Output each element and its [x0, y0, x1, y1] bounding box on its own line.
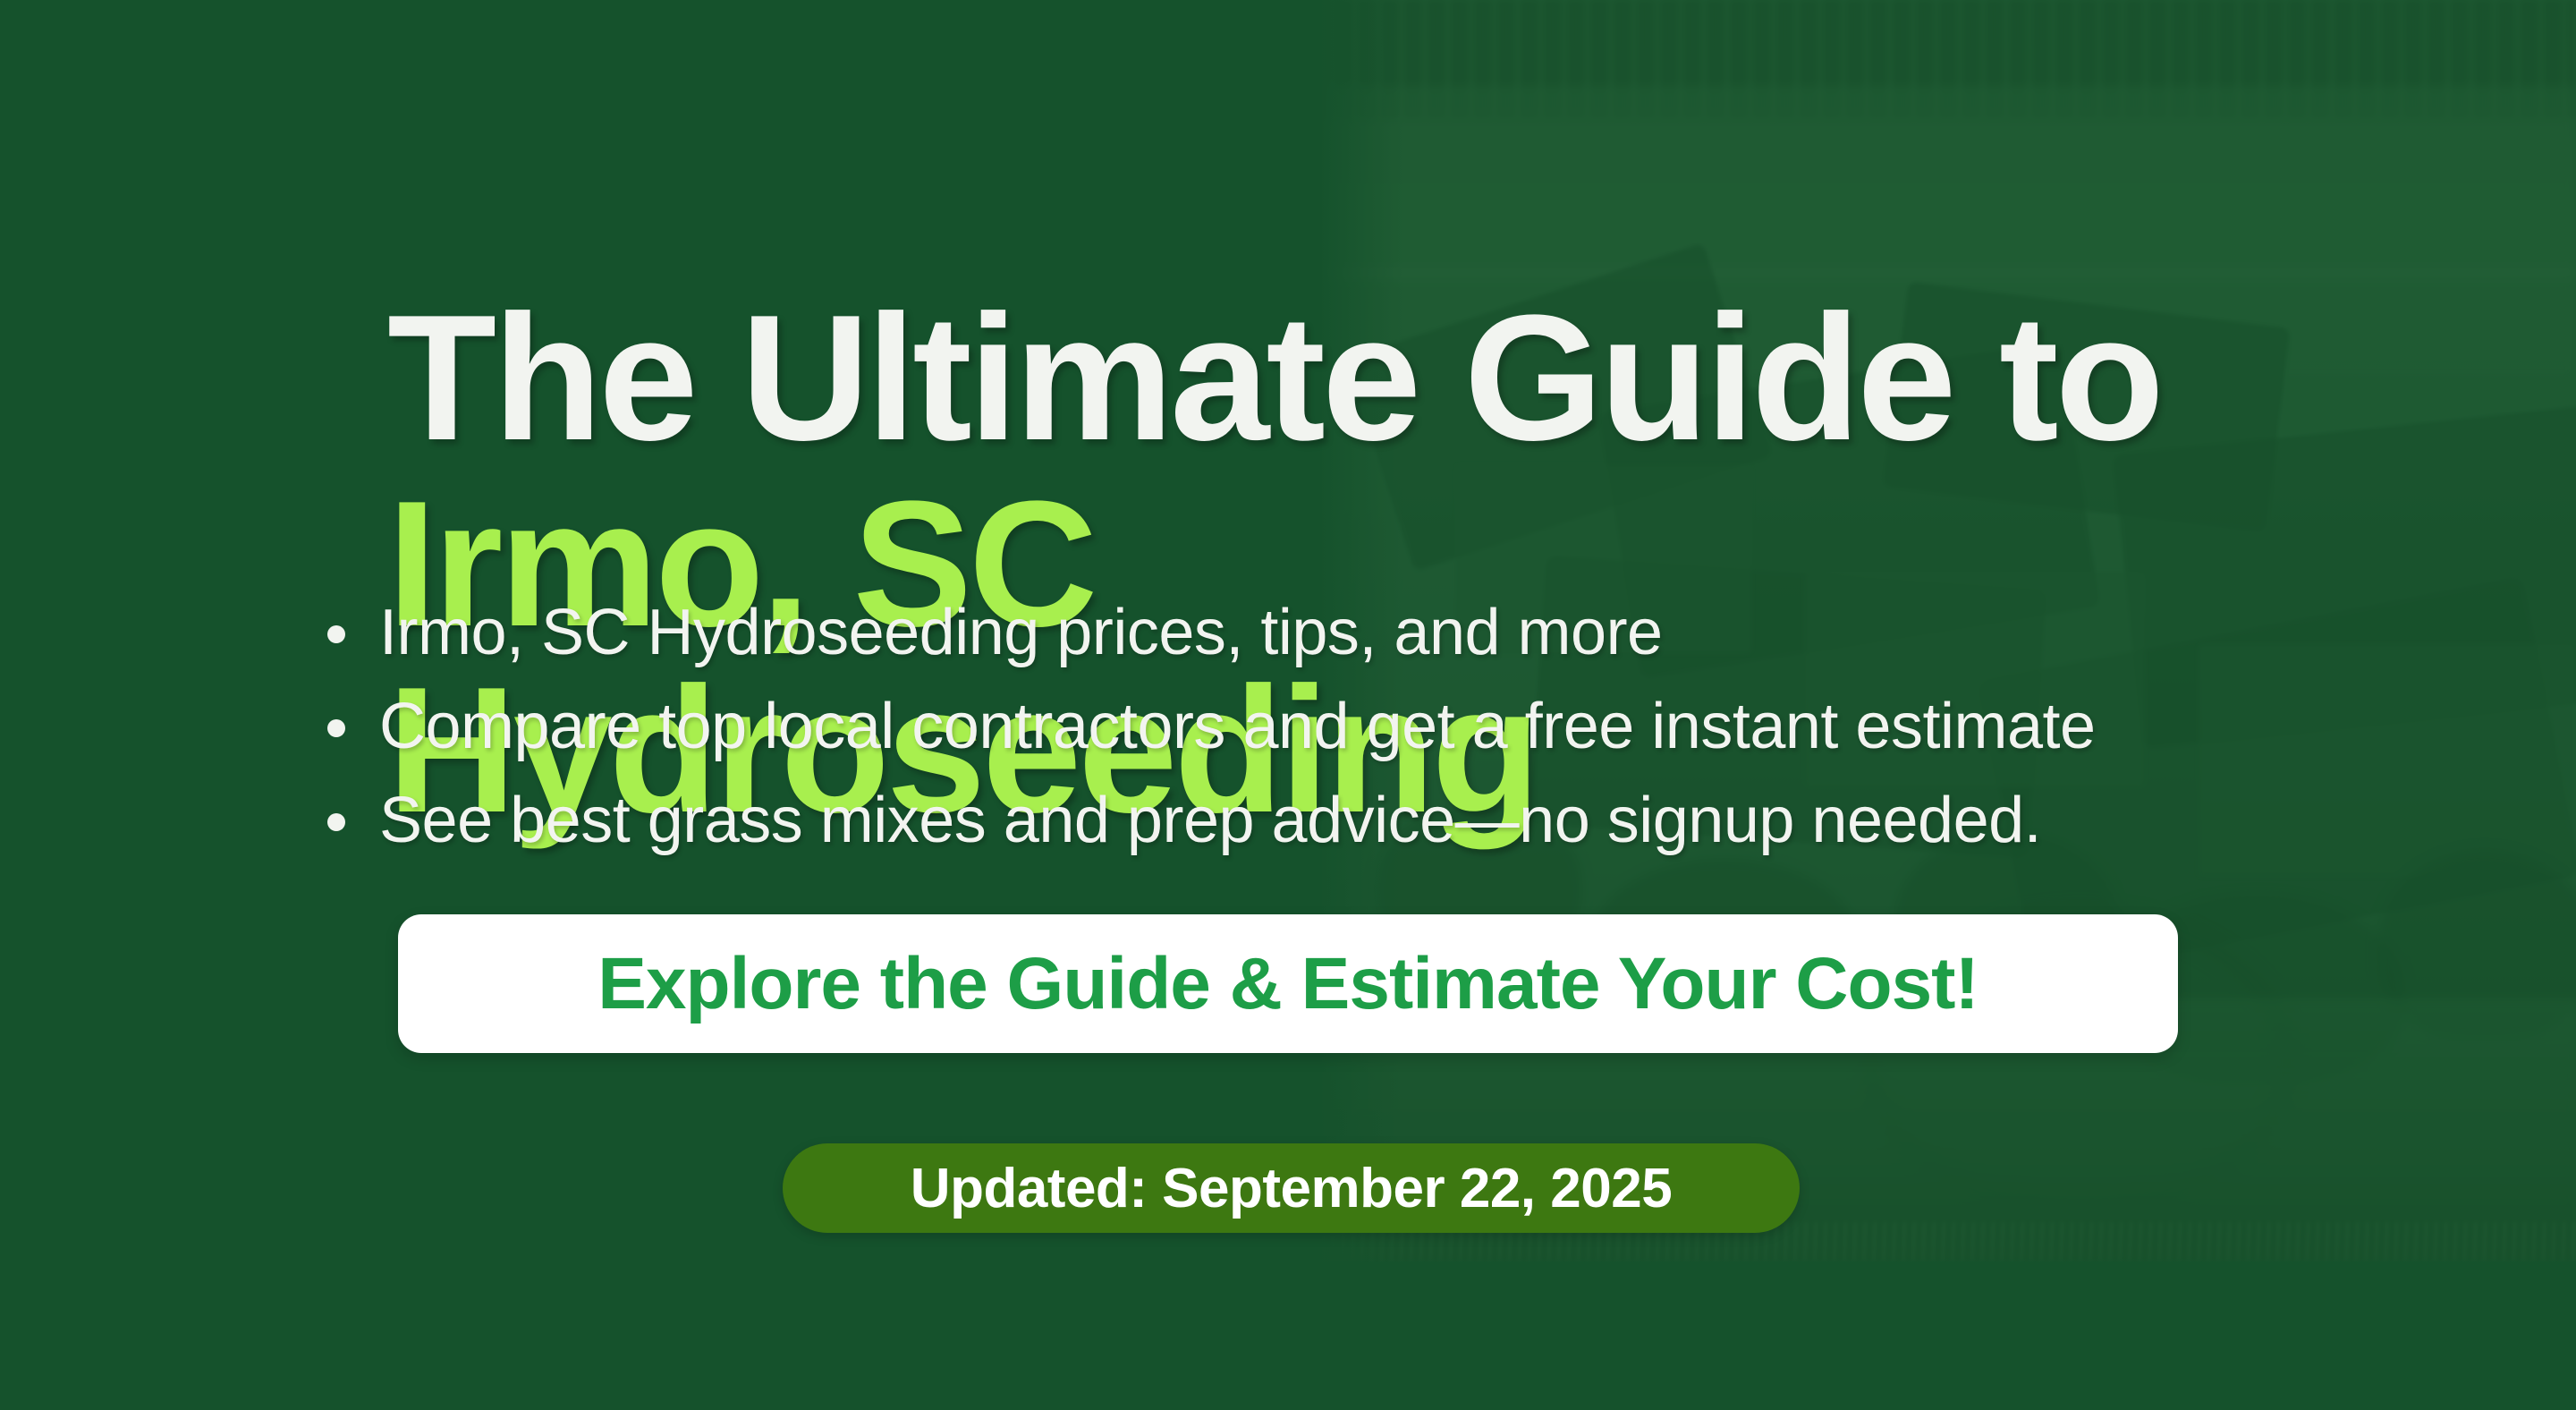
hero-banner: The Ultimate Guide to Irmo, SC Hydroseed…: [0, 0, 2576, 1410]
updated-date-text: Updated: September 22, 2025: [911, 1157, 1672, 1220]
updated-date-badge: Updated: September 22, 2025: [783, 1143, 1800, 1233]
list-item: See best grass mixes and prep advice—no …: [320, 774, 2288, 868]
benefit-list: Irmo, SC Hydroseeding prices, tips, and …: [320, 586, 2288, 868]
list-item: Irmo, SC Hydroseeding prices, tips, and …: [320, 586, 2288, 680]
explore-guide-button-label: Explore the Guide & Estimate Your Cost!: [597, 942, 1979, 1026]
hero-content: The Ultimate Guide to Irmo, SC Hydroseed…: [0, 0, 2576, 1410]
headline-line-1: The Ultimate Guide to: [387, 278, 2161, 478]
list-item: Compare top local contractors and get a …: [320, 680, 2288, 774]
explore-guide-button[interactable]: Explore the Guide & Estimate Your Cost!: [398, 914, 2178, 1053]
